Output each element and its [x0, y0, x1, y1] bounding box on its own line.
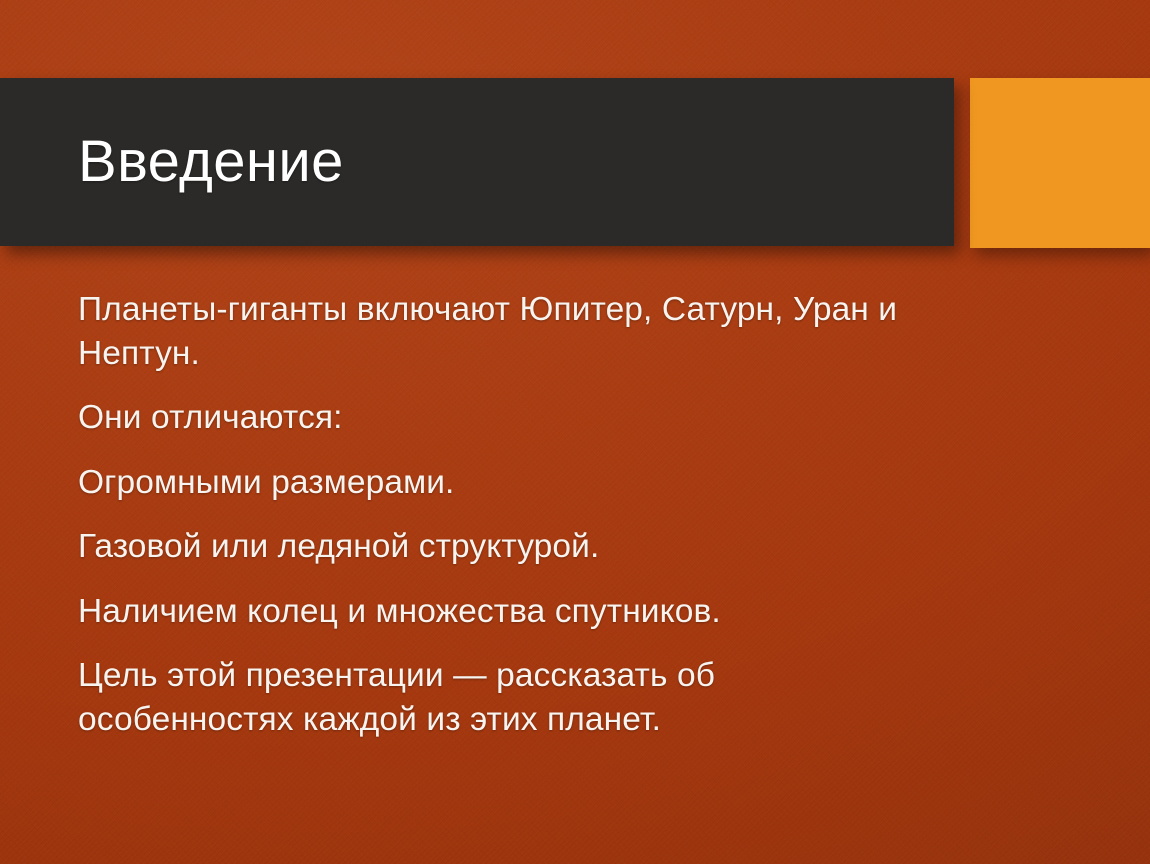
body-line: Газовой или ледяной структурой.	[78, 525, 908, 569]
presentation-slide: Введение Планеты-гиганты включают Юпитер…	[0, 0, 1150, 864]
body-content: Планеты-гиганты включают Юпитер, Сатурн,…	[78, 288, 978, 741]
body-line: Огромными размерами.	[78, 461, 908, 505]
body-line: Они отличаются:	[78, 396, 908, 440]
body-line: Наличием колец и множества спутников.	[78, 590, 908, 634]
body-line: Планеты-гиганты включают Юпитер, Сатурн,…	[78, 288, 908, 375]
title-banner: Введение	[0, 78, 954, 246]
body-line: Цель этой презентации — рассказать об ос…	[78, 654, 908, 741]
accent-block-orange	[970, 78, 1150, 248]
page-title: Введение	[78, 133, 344, 191]
